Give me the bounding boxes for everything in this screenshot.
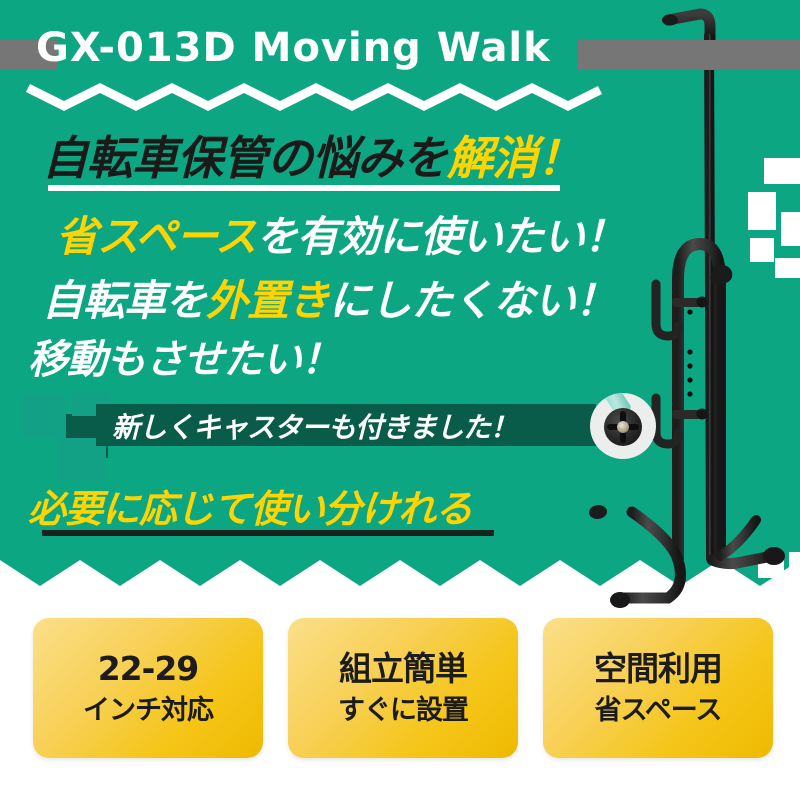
feature-card-title: 空間利用 bbox=[594, 651, 722, 687]
subheadline: 必要に応じて使い分けれる bbox=[28, 478, 472, 533]
bullet-2-prefix: 自転車を bbox=[42, 276, 206, 325]
headline-prefix: 自転車保管の悩みを bbox=[42, 131, 447, 185]
feature-card: 22-29 インチ対応 bbox=[33, 618, 263, 758]
headline-suffix: ！ bbox=[537, 131, 582, 185]
feature-card: 空間利用 省スペース bbox=[543, 618, 773, 758]
feature-card-list: 22-29 インチ対応 組立簡単 すぐに設置 空間利用 省スペース bbox=[0, 618, 800, 800]
feature-card-subtitle: 省スペース bbox=[595, 696, 722, 726]
caster-wheel bbox=[604, 408, 642, 446]
feature-card-title: 22-29 bbox=[98, 651, 199, 687]
headline-rule bbox=[48, 185, 560, 191]
subheadline-rule bbox=[42, 530, 494, 536]
caster-banner-text: 新しくキャスターも付きました！ bbox=[112, 406, 517, 446]
bullet-1-accent: 省スペース bbox=[56, 212, 256, 261]
feature-card-subtitle: すぐに設置 bbox=[338, 696, 468, 726]
bullet-1: 省スペースを有効に使いたい！ bbox=[56, 203, 625, 264]
headline: 自転車保管の悩みを解消！ bbox=[42, 122, 582, 188]
bullet-3: 移動もさせたい！ bbox=[28, 327, 340, 385]
bullet-1-rest: を有効に使いたい！ bbox=[256, 212, 625, 261]
caster-wheel-photo-icon bbox=[590, 393, 656, 459]
advertisement-banner: GX-013D Moving Walk 自転車保管の悩みを解消！ 省スペースを有… bbox=[0, 0, 800, 800]
headline-accent: 解消 bbox=[447, 131, 537, 185]
caster-spoke bbox=[607, 424, 639, 430]
feature-card-title: 組立簡単 bbox=[339, 651, 467, 687]
checker-tile bbox=[22, 394, 66, 438]
bullet-2-accent: 外置き bbox=[206, 276, 329, 325]
caster-spoke bbox=[620, 411, 626, 443]
bullet-2-rest: にしたくない！ bbox=[329, 276, 616, 325]
feature-card-subtitle: インチ対応 bbox=[83, 696, 213, 726]
bullet-2: 自転車を外置きにしたくない！ bbox=[42, 267, 616, 328]
feature-card: 組立簡単 すぐに設置 bbox=[288, 618, 518, 758]
